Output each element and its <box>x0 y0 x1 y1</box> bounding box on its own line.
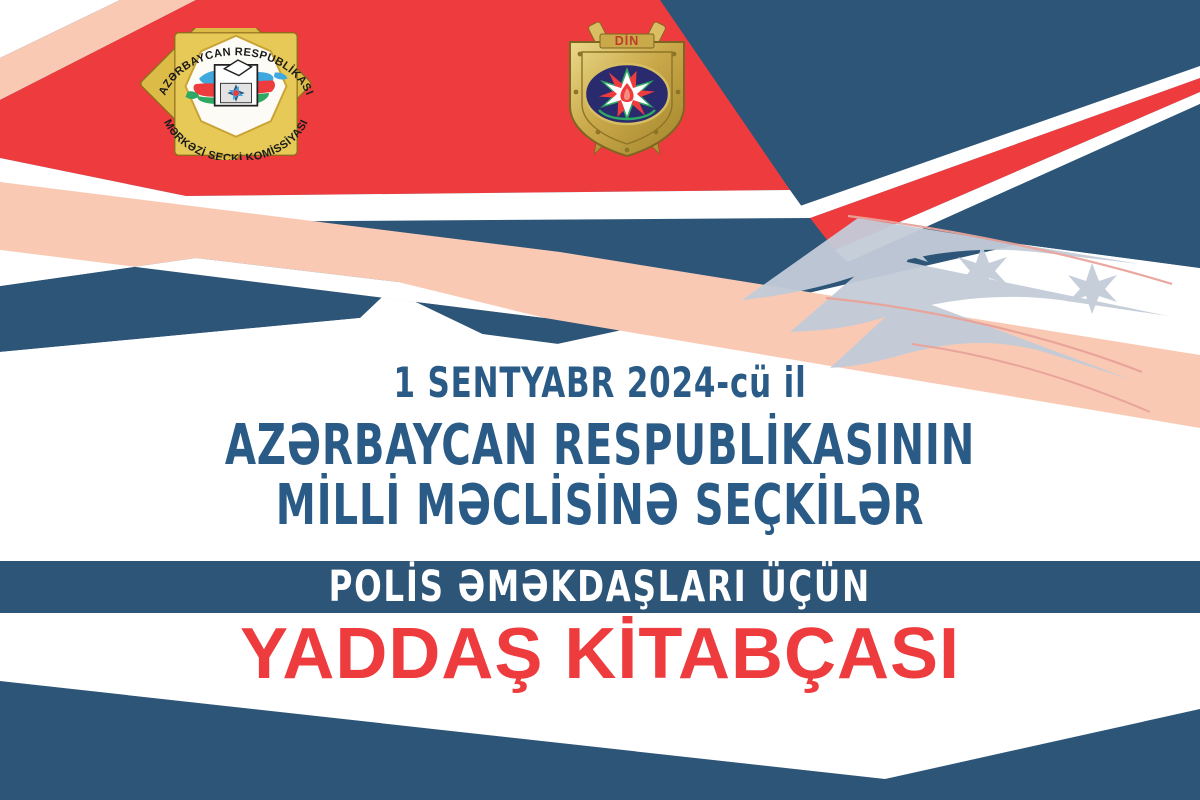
din-label: DİN <box>615 33 640 48</box>
audience-heading: POLİS ƏMƏKDAŞLARI ÜÇÜN <box>329 566 871 609</box>
parliament-heading: MİLLİ MƏCLİSİNƏ SEÇKİLƏR <box>120 478 1080 534</box>
audience-ribbon-band: POLİS ƏMƏKDAŞLARI ÜÇÜN <box>0 561 1200 613</box>
ministry-of-internal-affairs-emblem: DİN <box>532 10 722 170</box>
poster-title: YADDAŞ KİTABÇASI <box>0 617 1200 693</box>
heading-block: 1 SENTYABR 2024-cü il AZƏRBAYCAN RESPUBL… <box>0 362 1200 534</box>
date-heading: 1 SENTYABR 2024-cü il <box>108 362 1092 404</box>
poster-canvas: AZƏRBAYCAN RESPUBLİKASI MƏRKƏZİ SEÇKİ KO… <box>0 0 1200 800</box>
republic-heading: AZƏRBAYCAN RESPUBLİKASININ <box>120 418 1080 474</box>
central-election-commission-emblem: AZƏRBAYCAN RESPUBLİKASI MƏRKƏZİ SEÇKİ KO… <box>128 28 344 160</box>
ballot-box-icon <box>215 60 258 106</box>
shield-medallion <box>585 61 669 126</box>
